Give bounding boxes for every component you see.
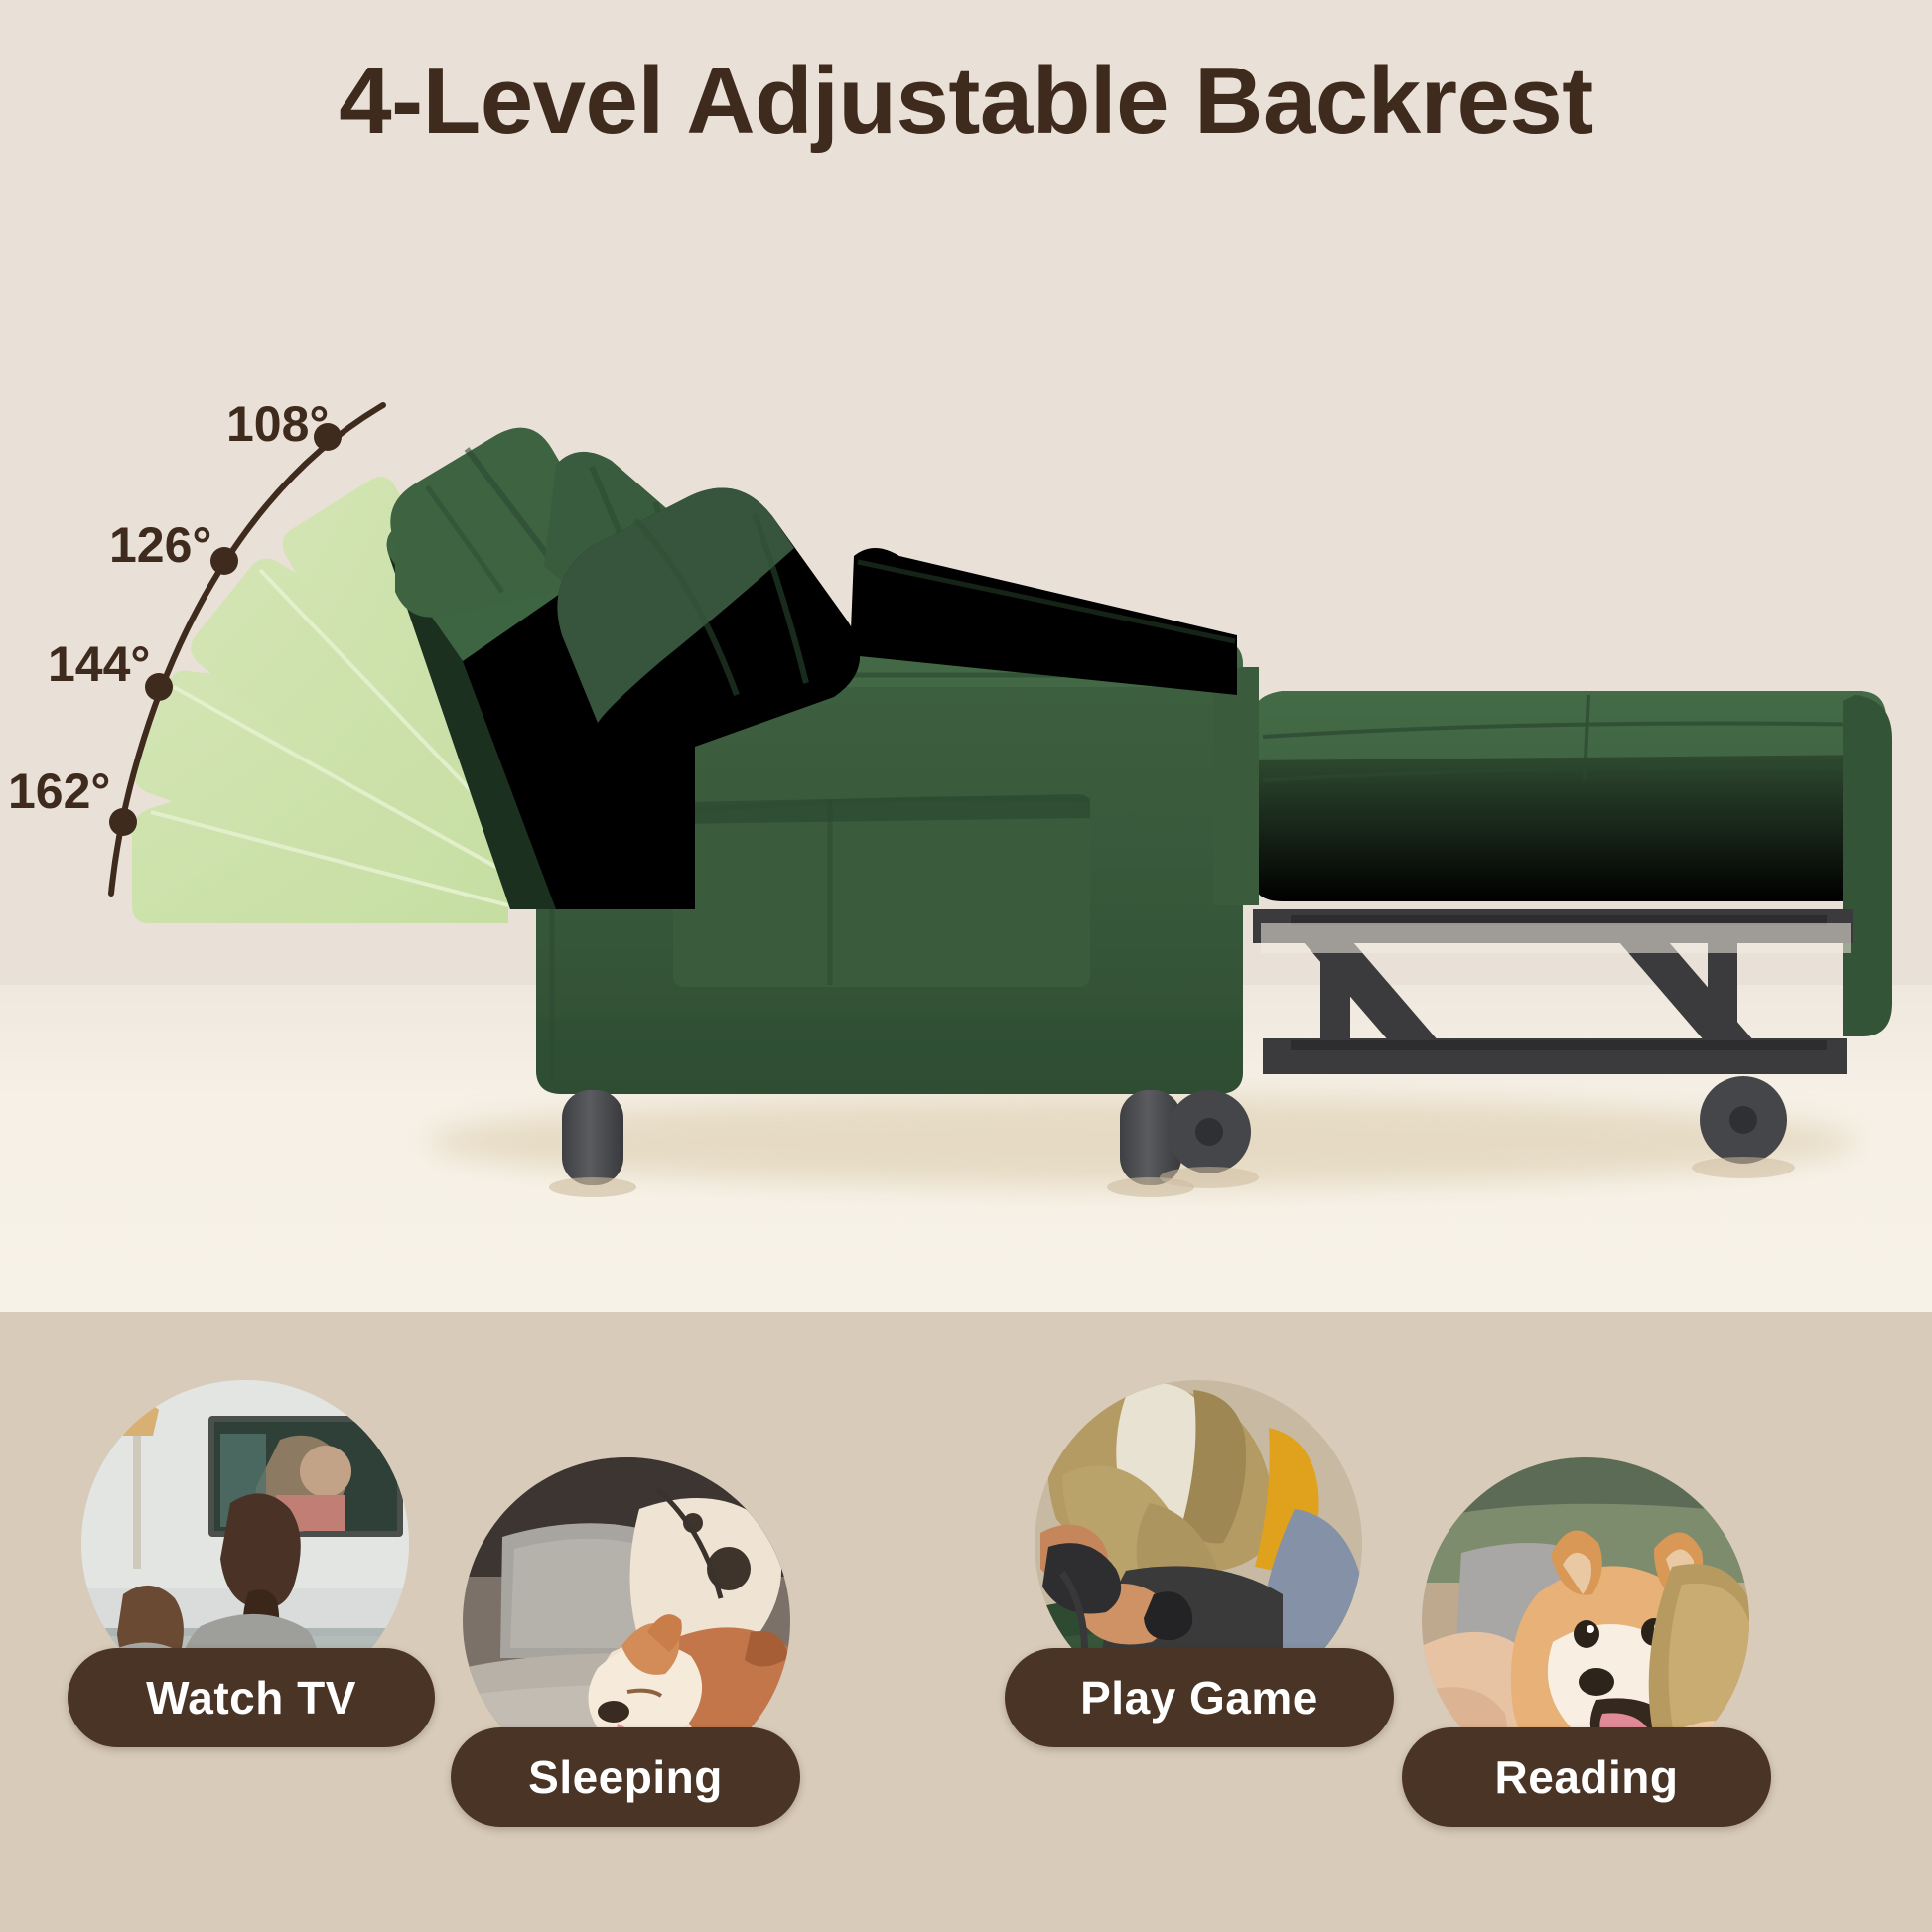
- leg-front: [562, 1090, 623, 1185]
- seat-cushion: [1213, 667, 1259, 905]
- infographic-page: 4-Level Adjustable Backrest: [0, 0, 1932, 1932]
- support-board: [1261, 923, 1851, 953]
- use-case-label-watch-tv: Watch TV: [68, 1648, 435, 1747]
- bed-end-cap: [1843, 695, 1892, 1036]
- use-case-label-sleeping: Sleeping: [451, 1727, 800, 1827]
- sofa-bed-illustration: [0, 0, 1932, 1312]
- backrest-diagram-panel: 4-Level Adjustable Backrest: [0, 0, 1932, 1312]
- side-pocket: [673, 794, 1090, 987]
- use-case-label-play-game: Play Game: [1005, 1648, 1394, 1747]
- use-case-label-reading: Reading: [1402, 1727, 1771, 1827]
